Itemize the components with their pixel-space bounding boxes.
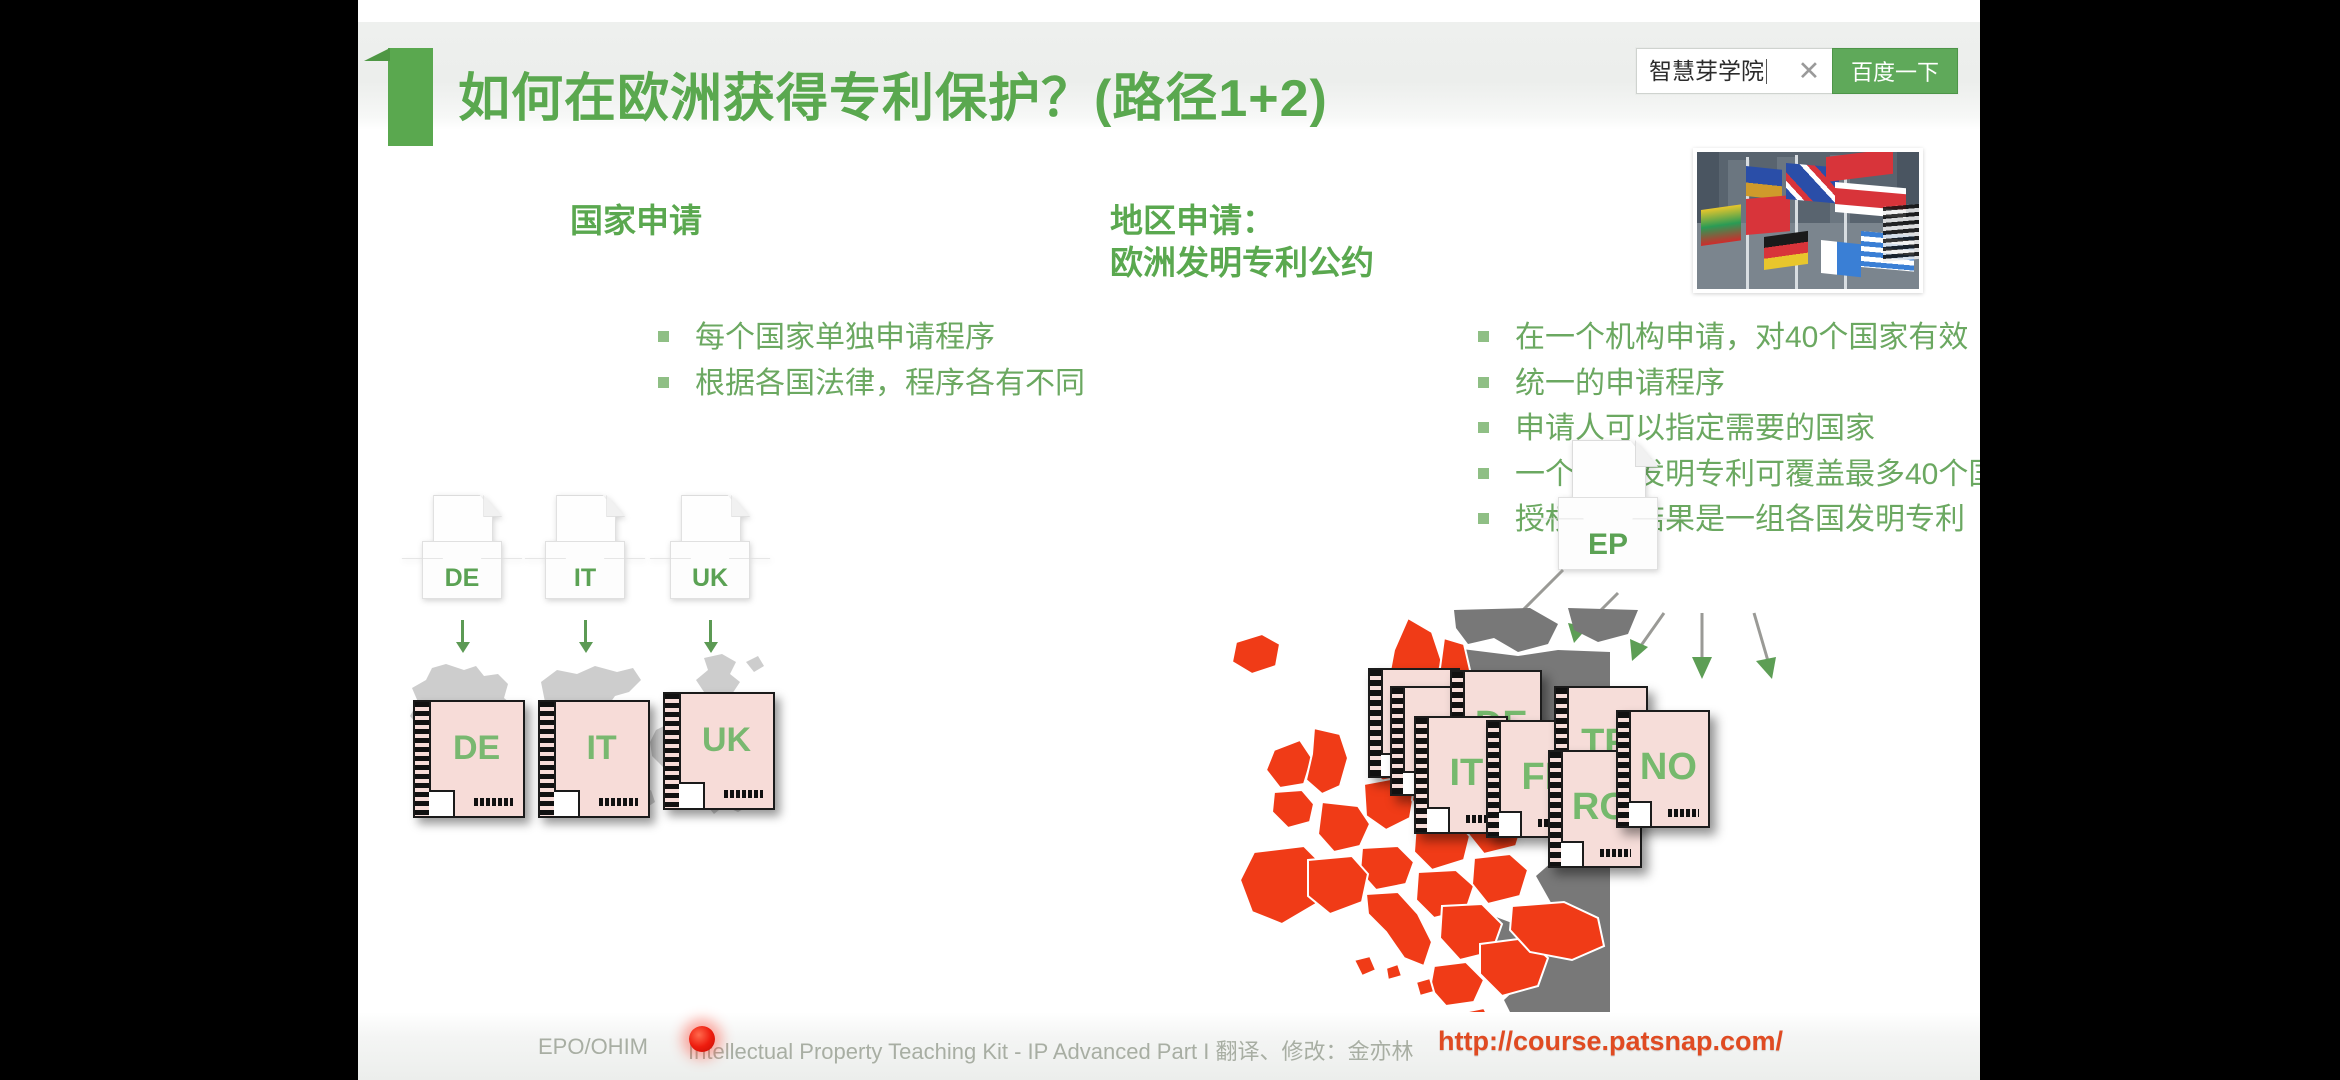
booklet-label: IT [559,729,643,768]
list-item-label: 根据各国法律，程序各有不同 [695,364,1085,404]
bullet-square-icon [1478,468,1489,479]
presentation-slide: 如何在欧洲获得专利保护？(路径1+2) 智慧芽学院 ✕ 百度一下 国家申请 每个… [358,0,1980,1080]
booklet-corner-fold [1499,811,1523,836]
list-item: 根据各国法律，程序各有不同 [658,364,1085,404]
booklet-label: DE [434,729,518,768]
patent-booklet-uk: UK [663,692,775,810]
arrow-head [579,642,593,653]
record-cursor-icon [689,1026,715,1052]
bullet-square-icon [658,377,669,388]
bullet-square-icon [1478,422,1489,433]
barcode-icon [474,798,513,806]
booklet-corner-fold [679,782,705,808]
envelope-label: EP [1558,528,1658,562]
booklet-corner-fold [1629,801,1653,826]
slide-header: 如何在欧洲获得专利保护？(路径1+2) 智慧芽学院 ✕ 百度一下 [358,22,1980,130]
envelope-icon-de: DE [422,495,502,599]
step-ribbon [388,48,433,146]
europe-map: DE IT FI TR R [1218,608,1778,1028]
video-player-stage: 如何在欧洲获得专利保护？(路径1+2) 智慧芽学院 ✕ 百度一下 国家申请 每个… [0,0,2340,1080]
list-item: 申请人可以指定需要的国家 [1478,409,1980,449]
envelope-label: UK [670,564,750,593]
search-input-value: 智慧芽学院 [1649,60,1764,83]
booklet-corner-fold [1561,841,1585,866]
arrow-head [456,642,470,653]
arrow-shaft [584,620,587,642]
flags-photo-content [1697,152,1919,289]
list-item: 在一个机构申请，对40个国家有效 [1478,318,1980,358]
patent-booklet-de: DE [413,700,525,818]
close-x-icon[interactable]: ✕ [1786,48,1832,94]
arrow-shaft [461,620,464,642]
envelope-icon-uk: UK [670,495,750,599]
left-column-bullets: 每个国家单独申请程序 根据各国法律，程序各有不同 [658,318,1085,409]
patent-booklet-no: NO [1616,710,1710,828]
barcode-icon [724,790,763,798]
envelope-icon-ep: EP [1558,440,1658,570]
right-column-bullets: 在一个机构申请，对40个国家有效 统一的申请程序 申请人可以指定需要的国家 一个… [1478,318,1980,546]
down-arrow-icon [704,620,716,653]
list-item-label: 统一的申请程序 [1515,364,1725,404]
list-item-label: 在一个机构申请，对40个国家有效 [1515,318,1968,358]
down-arrow-icon [579,620,591,653]
booklet-label: UK [684,721,768,760]
bullet-square-icon [658,331,669,342]
patent-booklet-it: IT [538,700,650,818]
list-item: 一个欧洲发明专利可覆盖最多40个国家 [1478,455,1980,495]
baidu-search-widget[interactable]: 智慧芽学院 ✕ 百度一下 [1636,48,1958,94]
page-title: 如何在欧洲获得专利保护？(路径1+2) [458,56,1328,131]
envelope-icon-it: IT [545,495,625,599]
envelope-label: IT [545,564,625,593]
barcode-icon [1600,849,1631,857]
barcode-icon [1668,809,1699,817]
search-input[interactable]: 智慧芽学院 [1636,48,1786,94]
footer-source: EPO/OHIM [538,1034,648,1060]
booklet-corner-fold [429,790,455,816]
slide-footer: EPO/OHIM Intellectual Property Teaching … [358,1012,1980,1080]
text-caret [1766,59,1767,84]
footer-credit: Intellectual Property Teaching Kit - IP … [688,1034,1414,1066]
barcode-icon [599,798,638,806]
envelope-fold [1635,440,1658,467]
search-submit-button[interactable]: 百度一下 [1832,48,1958,94]
envelope-fold [731,495,750,517]
list-item-label: 每个国家单独申请程序 [695,318,995,358]
ribbon-fold-icon [364,48,390,61]
envelope-fold [483,495,502,517]
bullet-square-icon [1478,513,1489,524]
down-arrow-icon [456,620,468,653]
booklet-label: NO [1632,746,1704,789]
arrow-shaft [709,620,712,642]
footer-url[interactable]: http://course.patsnap.com/ [1438,1026,1783,1057]
european-flags-photo [1693,148,1923,293]
bullet-square-icon [1478,331,1489,342]
list-item: 每个国家单独申请程序 [658,318,1085,358]
booklet-corner-fold [1427,807,1451,832]
booklet-corner-fold [554,790,580,816]
right-column-heading: 地区申请： 欧洲发明专利公约 [1110,200,1374,284]
list-item: 统一的申请程序 [1478,364,1980,404]
bullet-square-icon [1478,377,1489,388]
envelope-label: DE [422,564,502,593]
envelope-fold [606,495,625,517]
left-column-heading: 国家申请 [570,200,702,242]
